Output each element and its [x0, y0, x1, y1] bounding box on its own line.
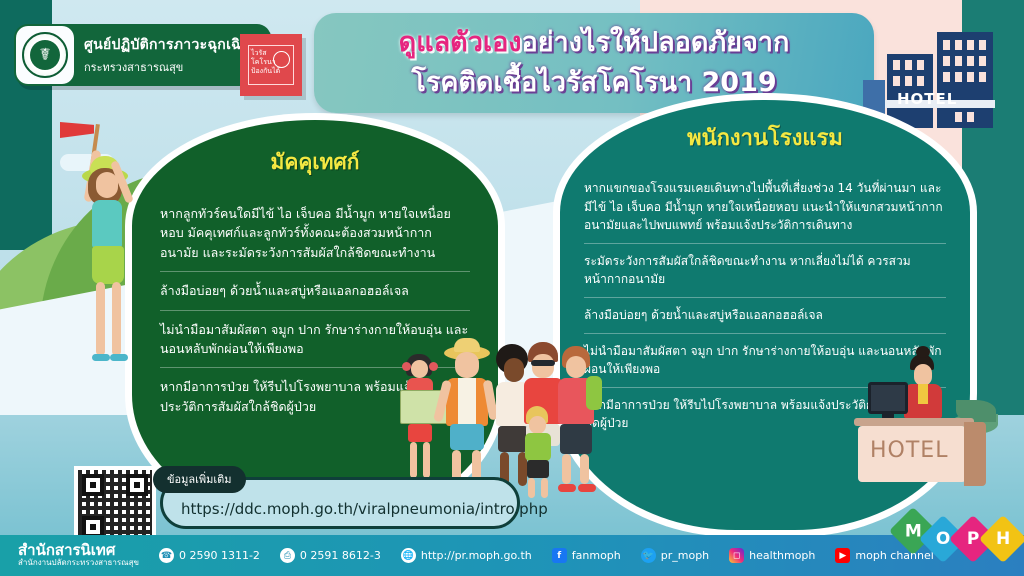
- list-item: ล้างมือบ่อยๆ ด้วยน้ำและสบู่หรือแอลกอฮอล์…: [584, 297, 946, 333]
- globe-icon: 🌐: [401, 548, 416, 563]
- footer-fax: ⎙ 0 2591 8612-3: [280, 548, 381, 563]
- list-item: หากแขกของโรงแรมเคยเดินทางไปพื้นที่เสี่ยง…: [584, 171, 946, 243]
- footer-organization: สำนักสารนิเทศ สำนักงานปลัดกระทรวงสาธารณส…: [18, 543, 139, 569]
- instagram-icon: ◻: [729, 548, 744, 563]
- page-title-line1: ดูแลตัวเองอย่างไรให้ปลอดภัยจาก: [314, 29, 874, 56]
- moph-eoc-logo-block: ☤ ศูนย์ปฏิบัติการภาวะฉุกเฉิน กระทรวงสาธา…: [14, 24, 271, 86]
- footer-twitter[interactable]: 🐦 pr_moph: [641, 548, 709, 563]
- twitter-icon: 🐦: [641, 548, 656, 563]
- eoc-title: ศูนย์ปฏิบัติการภาวะฉุกเฉิน: [84, 34, 251, 56]
- footer-website-value[interactable]: http://pr.moph.go.th: [421, 549, 532, 562]
- virus-face-icon: [273, 51, 290, 68]
- footer-org-name: สำนักสารนิเทศ: [18, 543, 139, 559]
- footer-phone: ☎ 0 2590 1311-2: [159, 548, 260, 563]
- hotel-reception-illustration: HOTEL: [848, 352, 1020, 522]
- title-banner: ดูแลตัวเองอย่างไรให้ปลอดภัยจาก โรคติดเชื…: [314, 13, 874, 113]
- footer-bar: สำนักสารนิเทศ สำนักงานปลัดกระทรวงสาธารณส…: [0, 535, 1024, 576]
- footer-facebook-value[interactable]: fanmoph: [572, 549, 621, 562]
- phone-icon: ☎: [159, 548, 174, 563]
- footer-fax-value: 0 2591 8612-3: [300, 549, 381, 562]
- footer-website[interactable]: 🌐 http://pr.moph.go.th: [401, 548, 532, 563]
- moph-logo: M O P H: [896, 510, 1020, 566]
- tour-guide-character-illustration: [52, 120, 148, 460]
- moph-letter-h: H: [996, 529, 1010, 549]
- card-tour-guide-title: มัคคุเทศก์: [132, 146, 498, 179]
- footer-twitter-value[interactable]: pr_moph: [661, 549, 709, 562]
- youtube-icon: ▶: [835, 548, 850, 563]
- info-url-link[interactable]: https://ddc.moph.go.th/viralpneumonia/in…: [181, 500, 548, 518]
- infographic-canvas: ☤ ศูนย์ปฏิบัติการภาวะฉุกเฉิน กระทรวงสาธา…: [0, 0, 1024, 576]
- qr-code: [74, 466, 156, 546]
- title-highlight: ดูแลตัวเอง: [399, 27, 522, 58]
- hotel-building-sign: HOTEL: [897, 90, 957, 108]
- moph-letter-m: M: [905, 521, 922, 541]
- list-item: หากลูกทัวร์คนใดมีไข้ ไอ เจ็บคอ มีน้ำมูก …: [160, 195, 470, 271]
- footer-facebook[interactable]: f fanmoph: [552, 548, 621, 563]
- more-info-label: ข้อมูลเพิ่มเติม: [153, 466, 246, 493]
- list-item: ระมัดระวังการสัมผัสใกล้ชิดขณะทำงาน หากเล…: [584, 243, 946, 297]
- more-info-url-box[interactable]: ข้อมูลเพิ่มเติม https://ddc.moph.go.th/v…: [160, 477, 520, 529]
- title-rest: อย่างไรให้ปลอดภัยจาก: [521, 27, 789, 58]
- footer-instagram-value[interactable]: healthmoph: [749, 549, 815, 562]
- reception-hotel-sign: HOTEL: [870, 438, 948, 463]
- coronavirus-prevention-badge: ไวรัส โคโรนา ป้องกันได้: [240, 34, 302, 96]
- footer-instagram[interactable]: ◻ healthmoph: [729, 548, 815, 563]
- facebook-icon: f: [552, 548, 567, 563]
- page-title-line2: โรคติดเชื้อไวรัสโคโรนา 2019: [314, 69, 874, 96]
- printer-icon: ⎙: [280, 548, 295, 563]
- footer-phone-value: 0 2590 1311-2: [179, 549, 260, 562]
- moph-letter-p: P: [967, 529, 979, 549]
- footer-org-sub: สำนักงานปลัดกระทรวงสาธารณสุข: [18, 559, 139, 568]
- moph-letter-o: O: [936, 529, 950, 549]
- ministry-title: กระทรวงสาธารณสุข: [84, 58, 251, 76]
- badge-line3: ป้องกันได้: [251, 67, 291, 76]
- ministry-seal-icon: ☤: [16, 26, 74, 84]
- list-item: ล้างมือบ่อยๆ ด้วยน้ำและสบู่หรือแอลกอฮอล์…: [160, 271, 470, 309]
